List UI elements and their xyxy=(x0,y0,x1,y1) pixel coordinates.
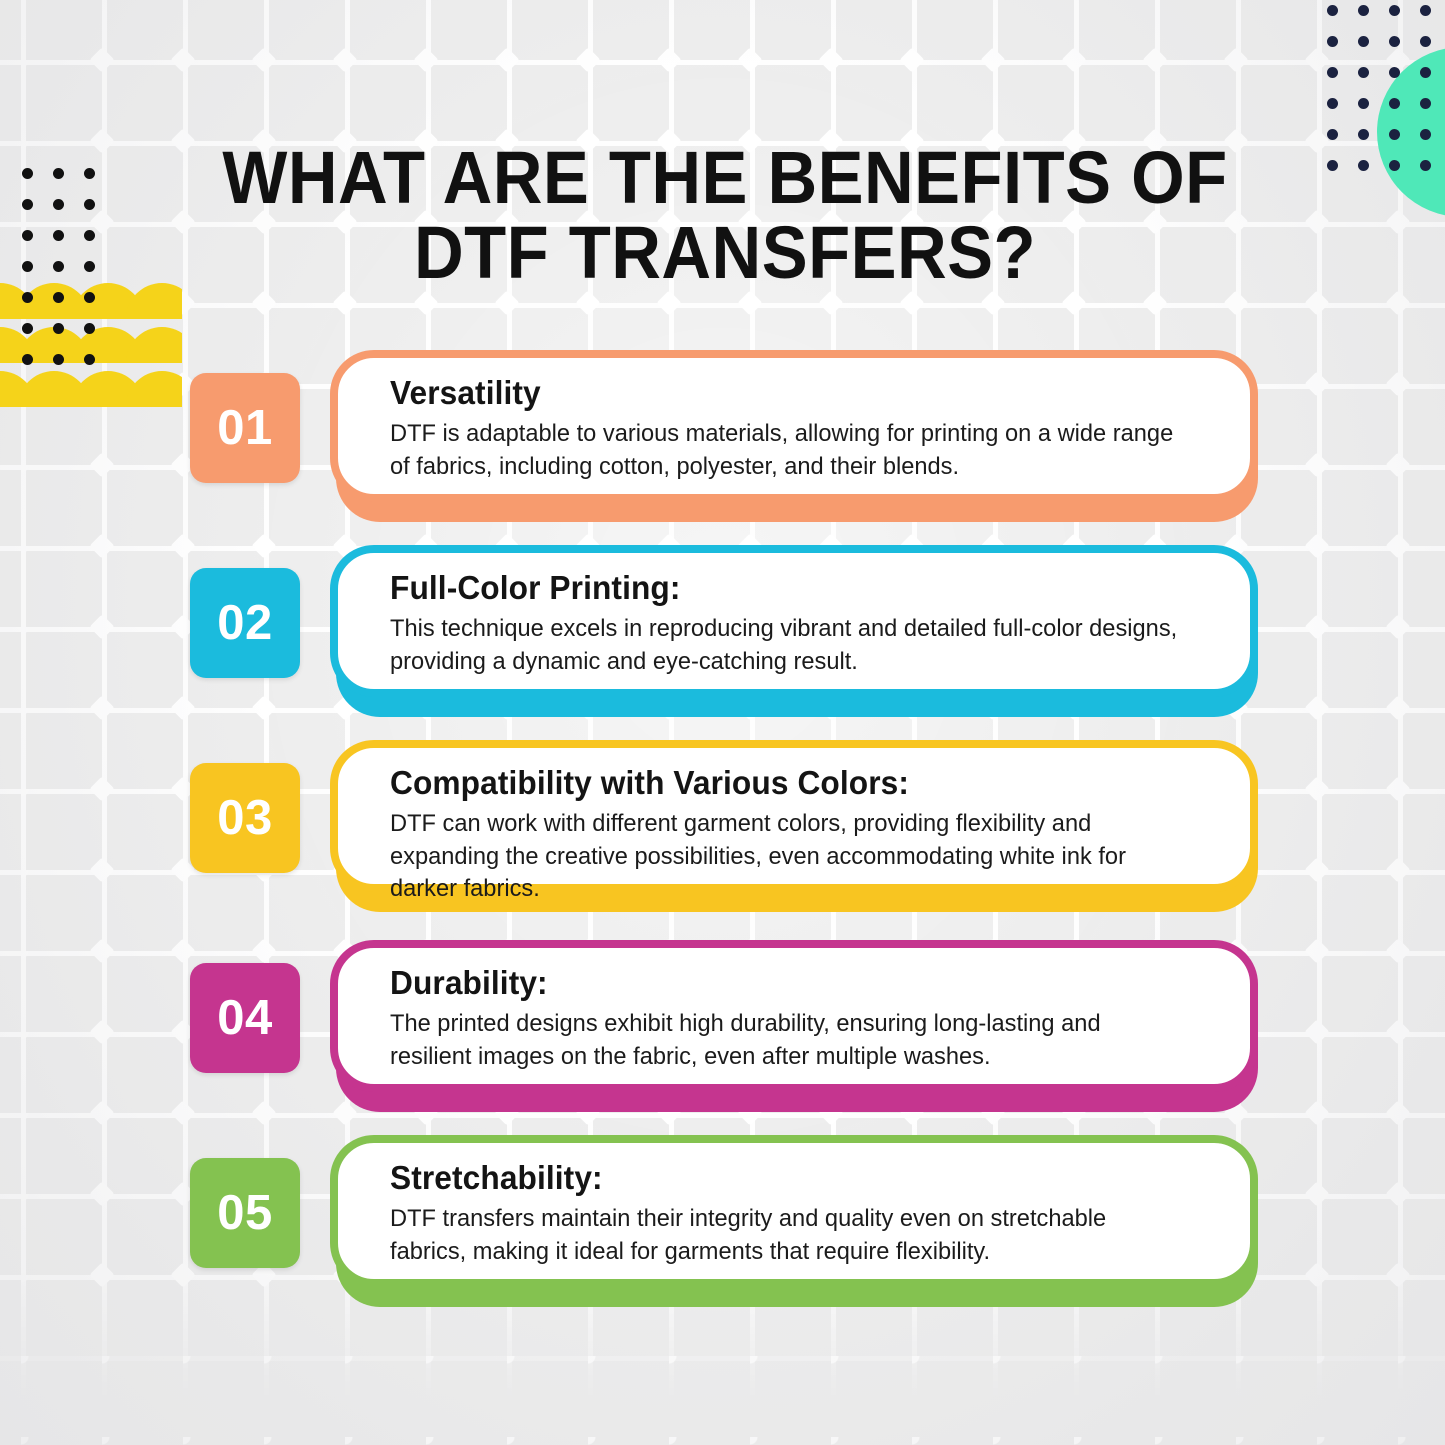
benefit-heading: Versatility xyxy=(390,374,1183,412)
benefits-list: 01VersatilityDTF is adaptable to various… xyxy=(0,0,1445,1445)
benefit-card-wrapper: Durability:The printed designs exhibit h… xyxy=(330,940,1258,1126)
benefit-body: DTF is adaptable to various materials, a… xyxy=(390,418,1187,483)
benefit-card-wrapper: Stretchability:DTF transfers maintain th… xyxy=(330,1135,1258,1321)
benefit-card-wrapper: Full-Color Printing:This technique excel… xyxy=(330,545,1258,731)
benefit-card[interactable]: VersatilityDTF is adaptable to various m… xyxy=(330,350,1258,502)
benefit-heading: Full-Color Printing: xyxy=(390,569,1183,607)
benefit-number: 01 xyxy=(217,400,273,456)
benefit-number: 03 xyxy=(217,790,273,846)
benefit-body: DTF transfers maintain their integrity a… xyxy=(390,1203,1187,1268)
benefit-card[interactable]: Stretchability:DTF transfers maintain th… xyxy=(330,1135,1258,1287)
benefit-body: DTF can work with different garment colo… xyxy=(390,808,1187,906)
benefit-row: 02Full-Color Printing:This technique exc… xyxy=(0,545,1445,731)
benefit-heading: Compatibility with Various Colors: xyxy=(390,764,1183,802)
benefit-row: 03Compatibility with Various Colors:DTF … xyxy=(0,740,1445,926)
benefit-heading: Stretchability: xyxy=(390,1159,1183,1197)
benefit-card[interactable]: Compatibility with Various Colors:DTF ca… xyxy=(330,740,1258,892)
benefit-number: 02 xyxy=(217,595,273,651)
benefit-row: 01VersatilityDTF is adaptable to various… xyxy=(0,350,1445,536)
benefit-card[interactable]: Durability:The printed designs exhibit h… xyxy=(330,940,1258,1092)
benefit-number-badge: 02 xyxy=(190,568,300,678)
benefit-row: 04Durability:The printed designs exhibit… xyxy=(0,940,1445,1126)
benefit-number-badge: 03 xyxy=(190,763,300,873)
benefit-number-badge: 01 xyxy=(190,373,300,483)
benefit-row: 05Stretchability:DTF transfers maintain … xyxy=(0,1135,1445,1321)
benefit-card-wrapper: VersatilityDTF is adaptable to various m… xyxy=(330,350,1258,536)
benefit-card-wrapper: Compatibility with Various Colors:DTF ca… xyxy=(330,740,1258,926)
benefit-heading: Durability: xyxy=(390,964,1183,1002)
benefit-number: 04 xyxy=(217,990,273,1046)
benefit-card[interactable]: Full-Color Printing:This technique excel… xyxy=(330,545,1258,697)
benefit-number-badge: 05 xyxy=(190,1158,300,1268)
benefit-body: This technique excels in reproducing vib… xyxy=(390,613,1187,678)
benefit-number: 05 xyxy=(217,1185,273,1241)
benefit-body: The printed designs exhibit high durabil… xyxy=(390,1008,1187,1073)
benefit-number-badge: 04 xyxy=(190,963,300,1073)
